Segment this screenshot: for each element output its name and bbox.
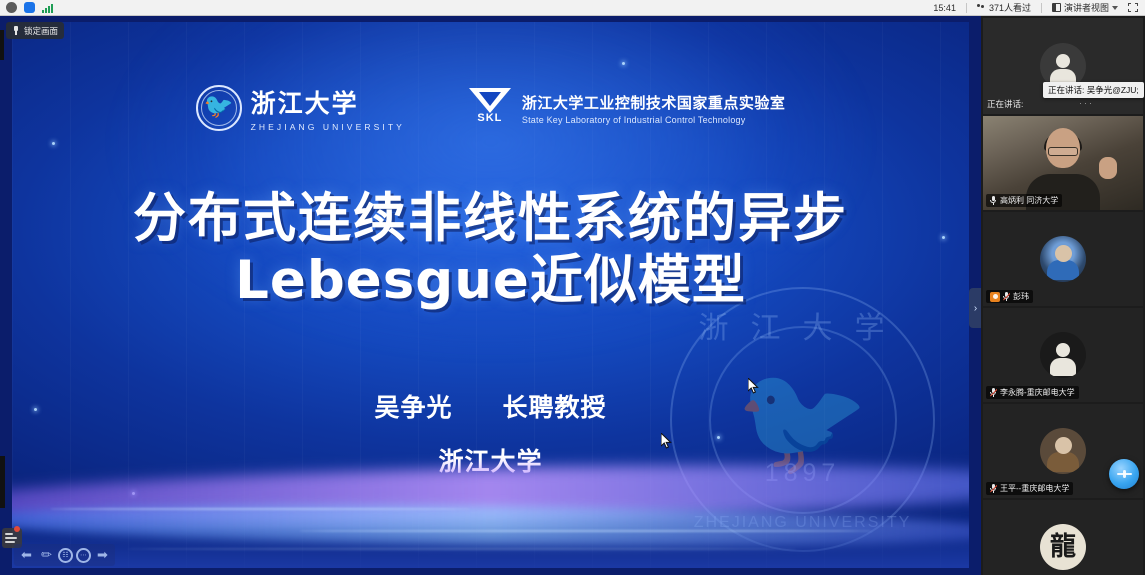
participant-name: 高炳利 同济大学 [1000, 195, 1058, 206]
viewer-count-label: 371人看过 [989, 1, 1031, 14]
participant-tile[interactable]: 彭玮 [983, 212, 1143, 306]
people-icon [977, 3, 986, 12]
shared-screen-stage[interactable]: 浙江大学 🐦 1897 ZHEJIANG UNIVERSITY 🐦 浙江大学 Z… [0, 16, 981, 575]
pen-tool-icon[interactable]: ✏ [38, 547, 55, 564]
stage-left-edge-lower [0, 456, 5, 508]
stage-left-edge [0, 30, 4, 60]
speaking-label: 正在讲话: [987, 98, 1023, 110]
participant-nameplate: 李永腾-重庆邮电大学 [986, 386, 1079, 399]
participant-tile[interactable]: 李永腾-重庆邮电大学 [983, 308, 1143, 402]
system-top-bar: 15:41 371人看过 演讲者视图 [0, 0, 1145, 16]
mouse-cursor-primary [748, 378, 759, 394]
share-icon [1117, 473, 1132, 475]
signal-icon[interactable] [42, 3, 53, 13]
collapse-chevron-icon: › [974, 303, 977, 314]
chevron-down-icon [1112, 6, 1118, 10]
next-slide-arrow[interactable]: ➡ [94, 547, 111, 564]
avatar [1040, 236, 1086, 282]
divider [966, 3, 967, 13]
skl-mark-label: SKL [477, 112, 502, 124]
loading-dots: ··· [1079, 98, 1094, 108]
participant-nameplate: 彭玮 [986, 290, 1033, 303]
topbar-right-group: 15:41 371人看过 演讲者视图 [933, 1, 1145, 14]
all-slides-icon[interactable]: ☷ [58, 548, 73, 563]
participant-tile[interactable]: 龍 ⌄ [983, 500, 1143, 575]
mic-muted-icon [1003, 292, 1010, 301]
view-mode-label: 演讲者视图 [1064, 1, 1109, 14]
skl-logo-cn: 浙江大学工业控制技术国家重点实验室 [522, 92, 786, 113]
avatar [1040, 332, 1086, 378]
slide-wave-decoration [12, 418, 969, 568]
skl-logo: SKL 浙江大学工业控制技术国家重点实验室 State Key Laborato… [467, 88, 786, 128]
pin-icon [12, 26, 20, 35]
app-icon[interactable] [24, 2, 35, 13]
active-speaker-tile[interactable]: 正在讲话: 正在讲话: 吴争光@ZJU; ··· [983, 18, 1143, 114]
participant-name: 王平--重庆邮电大学 [1000, 483, 1069, 494]
host-badge-icon [990, 292, 1000, 302]
share-button[interactable] [1109, 459, 1139, 489]
fullscreen-icon[interactable] [1128, 3, 1138, 12]
mouse-cursor-secondary [661, 433, 672, 449]
collapse-panel-button[interactable]: › [969, 288, 981, 328]
info-icon[interactable] [6, 2, 17, 13]
slide-title: 分布式连续非线性系统的异步 Lebesgue近似模型 [12, 190, 969, 311]
participant-name: 李永腾-重庆邮电大学 [1000, 387, 1075, 398]
avatar-character: 龍 [1050, 534, 1076, 560]
slide-title-line2: Lebesgue近似模型 [12, 251, 969, 310]
view-mode-selector[interactable]: 演讲者视图 [1052, 1, 1118, 14]
participant-name: 彭玮 [1013, 291, 1029, 302]
prev-slide-arrow[interactable]: ⬅ [18, 547, 35, 564]
sparkle-dot [52, 142, 55, 145]
participants-sidebar[interactable]: 正在讲话: 正在讲话: 吴争光@ZJU; ··· 高炳利 同济大学 [981, 16, 1145, 575]
participant-nameplate: 高炳利 同济大学 [986, 194, 1062, 207]
meeting-timer: 15:41 [933, 3, 956, 13]
slide-title-line1: 分布式连续非线性系统的异步 [12, 190, 969, 247]
notification-badge [14, 526, 20, 532]
zju-logo: 🐦 浙江大学 ZHEJIANG UNIVERSITY [196, 84, 405, 132]
lock-screen-label: 锁定画面 [24, 25, 58, 37]
avatar [1040, 428, 1086, 474]
skl-mark-icon: SKL [467, 88, 513, 128]
mic-muted-icon [990, 484, 997, 493]
layout-icon [1052, 3, 1061, 12]
sparkle-dot [622, 62, 625, 65]
skl-logo-en: State Key Laboratory of Industrial Contr… [522, 115, 786, 125]
more-options-icon[interactable]: ⋯ [76, 548, 91, 563]
speaking-tooltip: 正在讲话: 吴争光@ZJU; [1043, 82, 1144, 98]
mic-on-icon [990, 196, 997, 205]
mic-muted-icon [990, 388, 997, 397]
viewer-count[interactable]: 371人看过 [977, 1, 1031, 14]
meeting-window: 15:41 371人看过 演讲者视图 [0, 0, 1145, 575]
slide-logos: 🐦 浙江大学 ZHEJIANG UNIVERSITY SKL 浙江大学工业控制技… [12, 84, 969, 132]
topbar-left-icons [0, 2, 53, 13]
ppt-navigation-bar[interactable]: ⬅ ✏ ☷ ⋯ ➡ [14, 544, 115, 566]
divider [1041, 3, 1042, 13]
presentation-slide[interactable]: 浙江大学 🐦 1897 ZHEJIANG UNIVERSITY 🐦 浙江大学 Z… [12, 22, 969, 568]
participant-nameplate: 王平--重庆邮电大学 [986, 482, 1073, 495]
zju-logo-cn: 浙江大学 [251, 84, 405, 120]
participant-tile[interactable]: 高炳利 同济大学 [983, 116, 1143, 210]
lock-screen-button[interactable]: 锁定画面 [6, 22, 64, 39]
zju-crest-icon: 🐦 [196, 85, 242, 131]
avatar: 龍 [1040, 524, 1086, 570]
zju-logo-en: ZHEJIANG UNIVERSITY [251, 122, 405, 132]
